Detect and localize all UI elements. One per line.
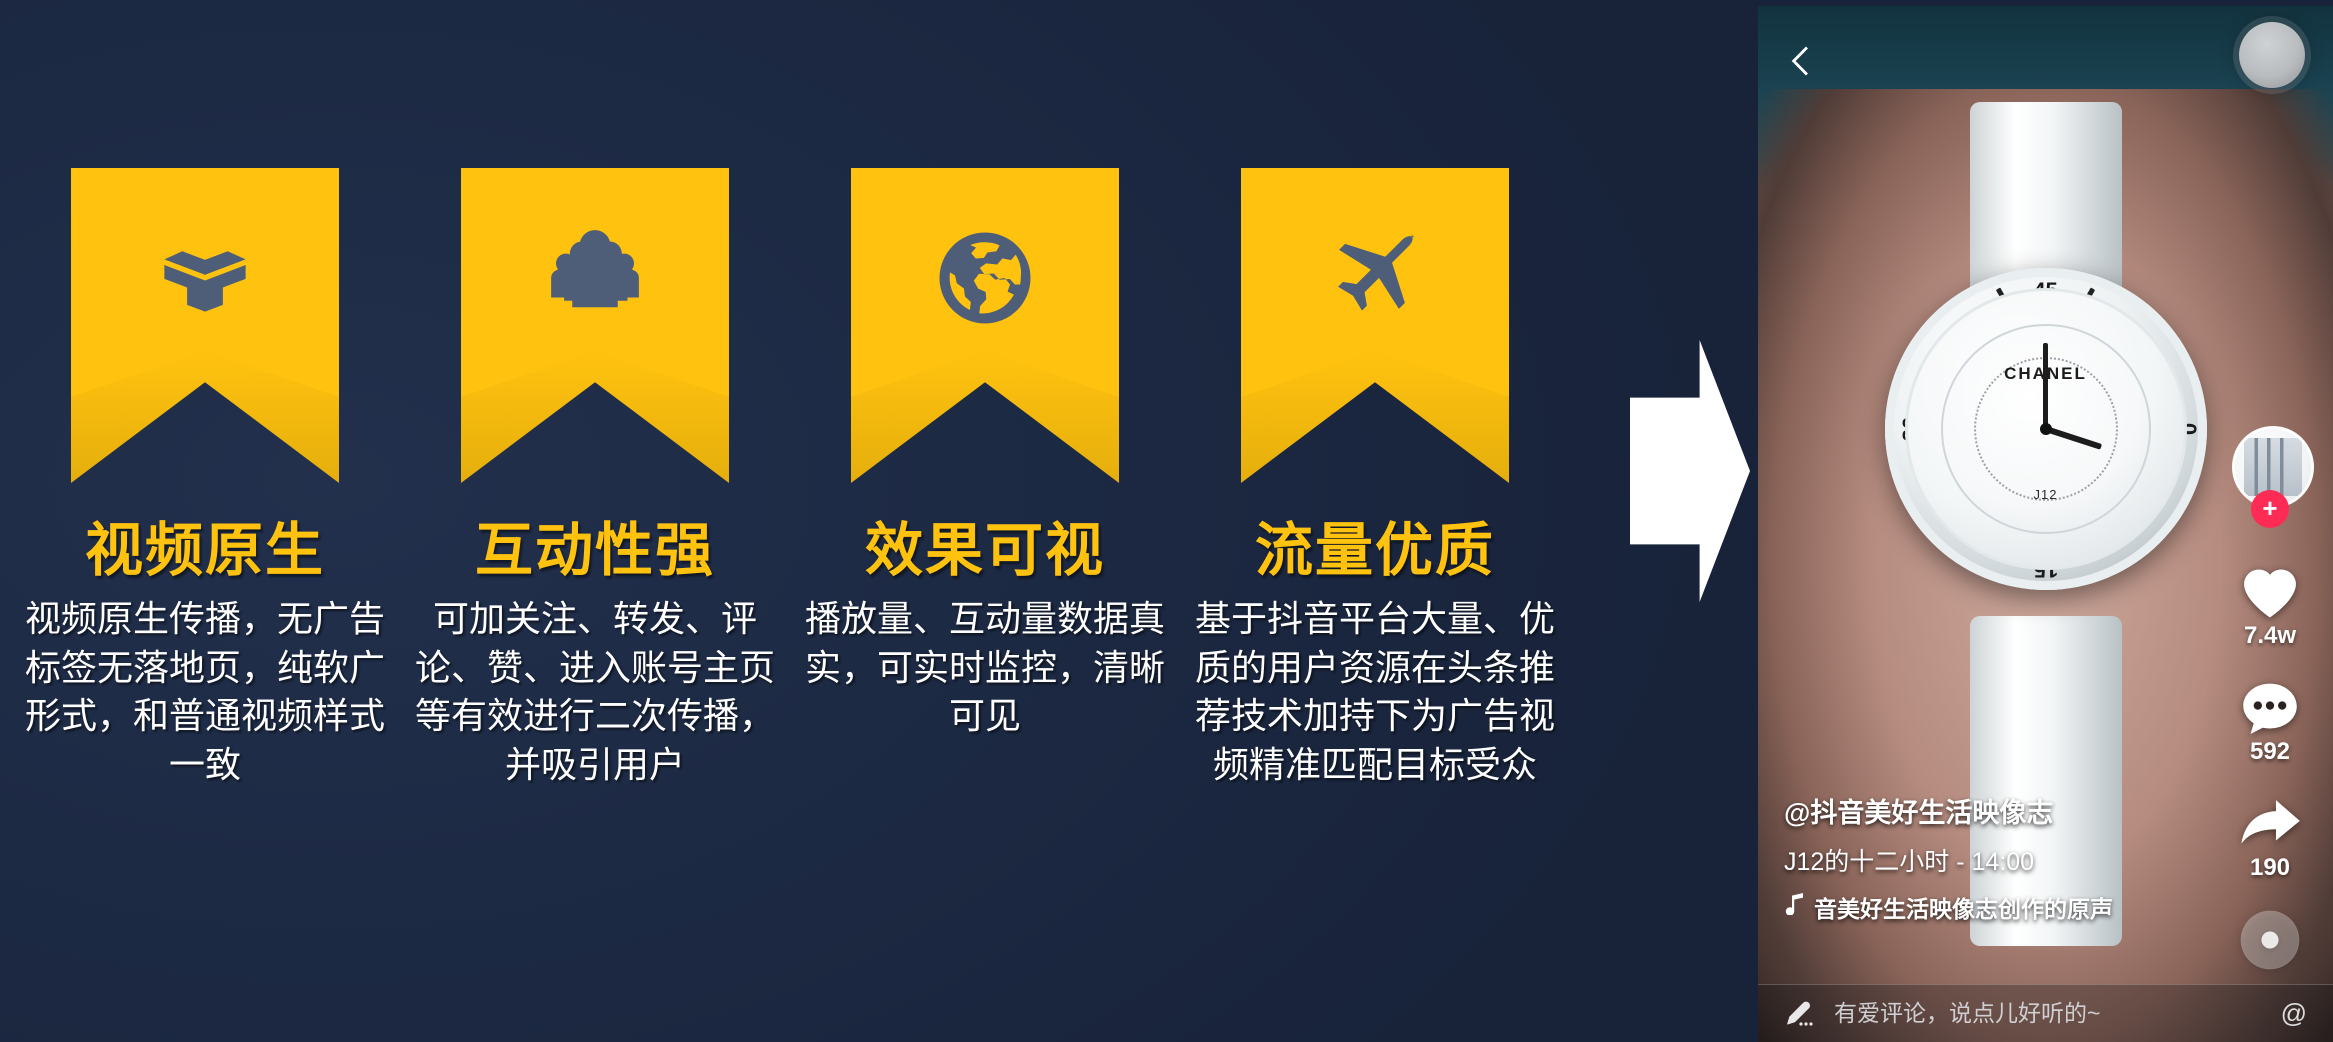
ribbon-shade — [1241, 351, 1509, 483]
music-disc-button[interactable] — [2223, 904, 2317, 976]
camera-lens-icon[interactable] — [2239, 22, 2305, 88]
feature-description: 播放量、互动量数据真实，可实时监控，清晰可见 — [804, 595, 1166, 741]
watch-minute-hand — [2043, 343, 2048, 429]
avatar[interactable]: + — [2223, 426, 2317, 530]
like-count: 7.4w — [2223, 622, 2317, 650]
comment-icon — [2223, 672, 2317, 744]
follow-button[interactable]: + — [2251, 490, 2289, 528]
comment-button[interactable]: 592 — [2223, 672, 2317, 766]
ribbon-shade — [71, 351, 339, 483]
ribbon-banner-4 — [1241, 168, 1509, 483]
share-count: 190 — [2223, 854, 2317, 882]
video-music[interactable]: 音美好生活映像志创作的原声 — [1784, 890, 2213, 924]
feature-headline: 视频原生 — [10, 522, 400, 580]
video-title: J12的十二小时 - 14:00 — [1784, 842, 2213, 878]
video-meta: @抖音美好生活映像志 J12的十二小时 - 14:00 音美好生活映像志创作的原… — [1784, 791, 2213, 924]
feature-description: 视频原生传播，无广告标签无落地页，纯软广形式，和普通视频样式一致 — [24, 595, 386, 789]
comment-input[interactable] — [1832, 999, 2263, 1028]
watch-dial: CHANEL J12 — [1941, 324, 2151, 534]
feature-headline: 互动性强 — [400, 522, 790, 580]
feature-card-3: 效果可视 播放量、互动量数据真实，可实时监控，清晰可见 — [790, 0, 1180, 1042]
share-icon — [2223, 788, 2317, 860]
music-title: 音美好生活映像志创作的原声 — [1814, 890, 2113, 924]
like-button[interactable]: 7.4w — [2223, 556, 2317, 650]
feature-card-2: 互动性强 可加关注、转发、评论、赞、进入账号主页等有效进行二次传播，并吸引用户 — [400, 0, 790, 1042]
comment-bar: @ — [1758, 984, 2333, 1042]
video-author[interactable]: @抖音美好生活映像志 — [1784, 791, 2213, 830]
heart-icon — [2223, 556, 2317, 628]
open-box-icon — [71, 226, 339, 330]
video-topbar — [1758, 6, 2333, 126]
watch-bezel: CHANEL J12 — [1905, 288, 2187, 570]
video-preview-panel: 45 30 0 15 CHANEL J12 — [1758, 6, 2333, 1042]
comment-count: 592 — [2223, 738, 2317, 766]
right-arrow-icon — [1630, 340, 1750, 602]
music-note-icon — [1784, 893, 1804, 921]
avatar-image — [2244, 438, 2302, 496]
ribbon-banner-2 — [461, 168, 729, 483]
pencil-icon — [1784, 1001, 1814, 1027]
ribbon-banner-3 — [851, 168, 1119, 483]
watch-center-pin — [2040, 423, 2052, 435]
feature-card-4: 流量优质 基于抖音平台大量、优质的用户资源在头条推荐技术加持下为广告视频精准匹配… — [1180, 0, 1570, 1042]
users-group-icon — [461, 226, 729, 330]
watch-model-label: J12 — [1943, 487, 2149, 502]
share-button[interactable]: 190 — [2223, 788, 2317, 882]
music-disc-icon — [2223, 904, 2317, 976]
ribbon-shade — [461, 351, 729, 483]
feature-description: 可加关注、转发、评论、赞、进入账号主页等有效进行二次传播，并吸引用户 — [414, 595, 776, 789]
globe-icon — [851, 226, 1119, 330]
feature-card-1: 视频原生 视频原生传播，无广告标签无落地页，纯软广形式，和普通视频样式一致 — [10, 0, 400, 1042]
action-rail: + 7.4w 59 — [2223, 426, 2317, 998]
airplane-icon — [1241, 226, 1509, 330]
feature-headline: 流量优质 — [1180, 522, 1570, 580]
at-icon[interactable]: @ — [2281, 998, 2307, 1029]
feature-headline: 效果可视 — [790, 522, 1180, 580]
feature-columns: 视频原生 视频原生传播，无广告标签无落地页，纯软广形式，和普通视频样式一致 — [0, 0, 1630, 1042]
chevron-left-icon[interactable] — [1786, 44, 1820, 78]
ribbon-banner-1 — [71, 168, 339, 483]
watch-case: 45 30 0 15 CHANEL J12 — [1885, 268, 2207, 590]
ribbon-shade — [851, 351, 1119, 483]
feature-description: 基于抖音平台大量、优质的用户资源在头条推荐技术加持下为广告视频精准匹配目标受众 — [1194, 595, 1556, 789]
slide-root: 视频原生 视频原生传播，无广告标签无落地页，纯软广形式，和普通视频样式一致 — [0, 0, 2333, 1042]
